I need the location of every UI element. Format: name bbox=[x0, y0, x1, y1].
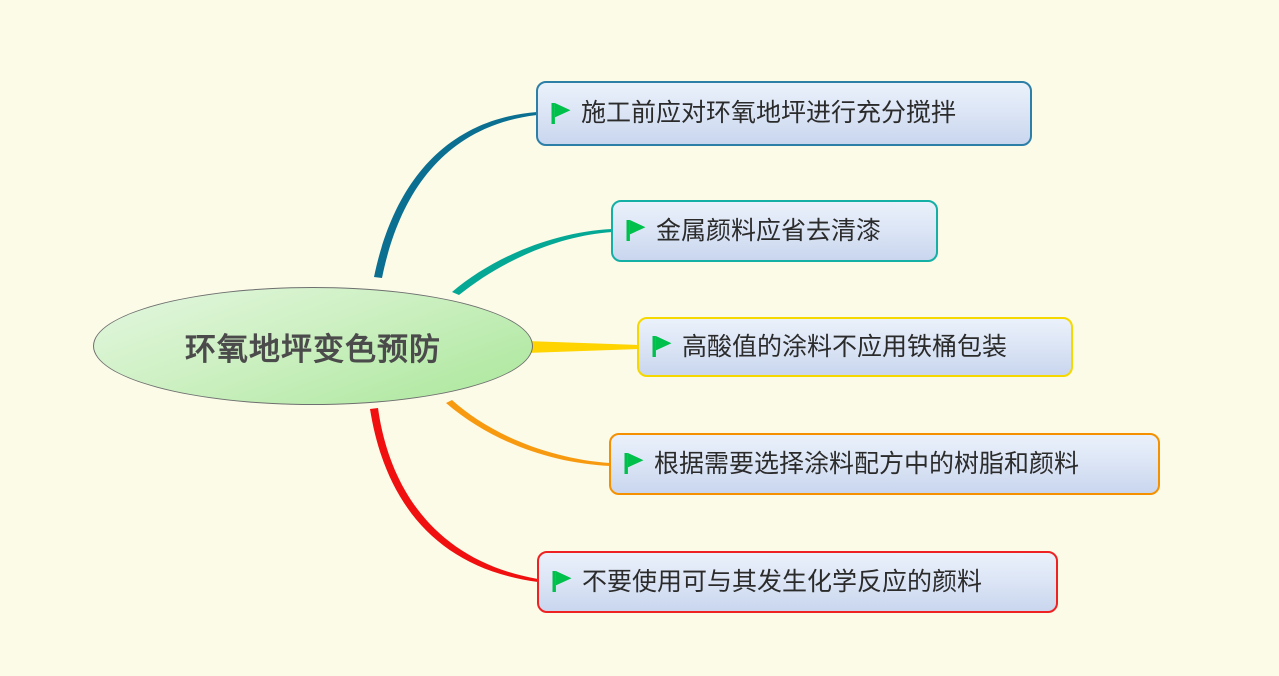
mindmap-canvas: 环氧地坪变色预防 施工前应对环氧地坪进行充分搅拌 金属颜料应省去清漆 高酸值的涂… bbox=[0, 0, 1279, 676]
connector-branch-1 bbox=[374, 112, 537, 278]
topic-node-1[interactable]: 施工前应对环氧地坪进行充分搅拌 bbox=[536, 81, 1032, 146]
green-flag-icon bbox=[651, 334, 673, 360]
topic-node-2[interactable]: 金属颜料应省去清漆 bbox=[611, 200, 938, 262]
green-flag-icon bbox=[625, 218, 647, 244]
root-node-label: 环氧地坪变色预防 bbox=[185, 324, 441, 369]
topic-node-2-label: 金属颜料应省去清漆 bbox=[656, 219, 881, 244]
topic-node-4-label: 根据需要选择涂料配方中的树脂和颜料 bbox=[654, 452, 1079, 477]
green-flag-icon bbox=[623, 451, 645, 477]
connector-branch-5 bbox=[370, 408, 538, 582]
topic-node-3-label: 高酸值的涂料不应用铁桶包装 bbox=[682, 335, 1007, 360]
root-node[interactable]: 环氧地坪变色预防 bbox=[93, 287, 533, 405]
topic-node-3[interactable]: 高酸值的涂料不应用铁桶包装 bbox=[637, 317, 1073, 377]
connector-branch-3 bbox=[526, 341, 638, 353]
topic-node-5-label: 不要使用可与其发生化学反应的颜料 bbox=[582, 570, 982, 595]
connector-branch-2 bbox=[452, 229, 612, 295]
topic-node-5[interactable]: 不要使用可与其发生化学反应的颜料 bbox=[537, 551, 1058, 613]
green-flag-icon bbox=[551, 569, 573, 595]
connector-branch-4 bbox=[446, 400, 610, 466]
topic-node-1-label: 施工前应对环氧地坪进行充分搅拌 bbox=[581, 101, 956, 126]
topic-node-4[interactable]: 根据需要选择涂料配方中的树脂和颜料 bbox=[609, 433, 1160, 495]
green-flag-icon bbox=[550, 101, 572, 127]
